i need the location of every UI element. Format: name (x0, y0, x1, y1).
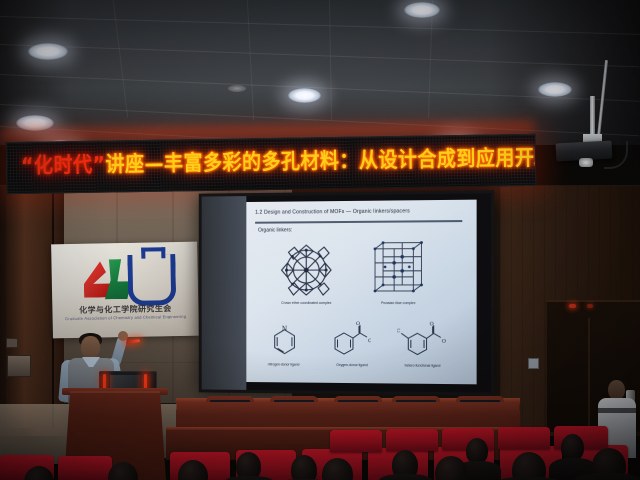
slide-caption-prussian-blue: Prussian blue complex (357, 301, 440, 305)
svg-text:O: O (430, 321, 434, 327)
auditorium-seat (330, 430, 382, 452)
projector-lens (579, 158, 593, 167)
pyridine-ligand-diagram: N (268, 325, 301, 359)
ceiling-light (538, 82, 572, 97)
exit-indicator-light (569, 304, 576, 308)
slide-title: 1.2 Design and Construction of MOFs — Or… (255, 208, 468, 216)
light-switch-right[interactable] (528, 358, 539, 369)
association-banner: 化学与化工学院研究生会 Graduate Association of Chem… (51, 242, 199, 339)
cubic-framework-molecule-diagram (367, 240, 430, 299)
svg-text:OH: OH (368, 338, 371, 344)
projection-screen: 1.2 Design and Construction of MOFs — Or… (199, 190, 494, 395)
slide-caption-oxygen-ligand: Oxygen-donor ligand (319, 363, 385, 368)
auditorium-seat (386, 429, 438, 451)
ceiling-light (404, 2, 440, 18)
audience-shoulders (379, 474, 432, 480)
presentation-slide: 1.2 Design and Construction of MOFs — Or… (246, 200, 476, 385)
light-switch-left[interactable] (7, 355, 31, 377)
smoke-detector (228, 85, 246, 92)
macrocycle-molecule-diagram (276, 241, 337, 299)
heterofunctional-ligand-diagram: NC OH O (397, 321, 446, 360)
led-banner-middle: 讲座—丰富多彩的多孔材料：从设计合成到应用开发 (105, 145, 536, 177)
slide-subtitle: Organic linkers: (258, 227, 292, 233)
led-banner-quote: “化时代” (21, 152, 106, 178)
svg-text:O: O (356, 321, 360, 327)
standing-person-head (608, 380, 625, 400)
lecture-hall-photo: “化时代”讲座—丰富多彩的多孔材料：从设计合成到应用开发 李培洲教授 化学与化工… (0, 0, 640, 480)
door-right-seam (588, 318, 590, 430)
standing-person-stripe (598, 408, 636, 413)
svg-text:OH: OH (442, 338, 446, 344)
audience-head (561, 434, 584, 461)
slide-caption-hetero-ligand: hetero-functional ligand (385, 363, 460, 368)
ceiling-seam-vertical (113, 0, 128, 117)
ceiling-seam-vertical (247, 0, 254, 120)
projector-pole (590, 96, 595, 138)
screen-side-shadow (202, 196, 247, 390)
projector-cable (604, 141, 628, 169)
slide-caption-crown-ether: Crown ether coordinated complex (264, 301, 349, 305)
speaker-hand (118, 331, 128, 341)
audience-head (512, 452, 546, 480)
led-banner: “化时代”讲座—丰富多彩的多孔材料：从设计合成到应用开发 李培洲教授 (6, 134, 537, 194)
ceiling-light (288, 88, 321, 103)
wall-plate-left[interactable] (6, 338, 18, 348)
slide-caption-nitrogen-ligand: nitrogen-donor ligand (252, 362, 315, 366)
ceiling-light (28, 43, 68, 60)
door-left[interactable] (6, 190, 54, 428)
slide-divider (255, 220, 462, 223)
carboxylate-ligand-diagram: OH O (331, 321, 371, 359)
auditorium-seat (58, 456, 112, 480)
banner-fabric-sheen (51, 242, 199, 339)
audience-shoulders (224, 476, 274, 480)
audience-shoulders (574, 473, 640, 480)
ceiling (0, 0, 640, 145)
auditorium-seat (498, 427, 550, 449)
svg-text:N: N (282, 326, 287, 333)
exit-indicator-light (587, 304, 593, 308)
ceiling-seam-vertical (329, 0, 332, 120)
audience-head (291, 455, 317, 480)
svg-text:NC: NC (397, 328, 400, 334)
